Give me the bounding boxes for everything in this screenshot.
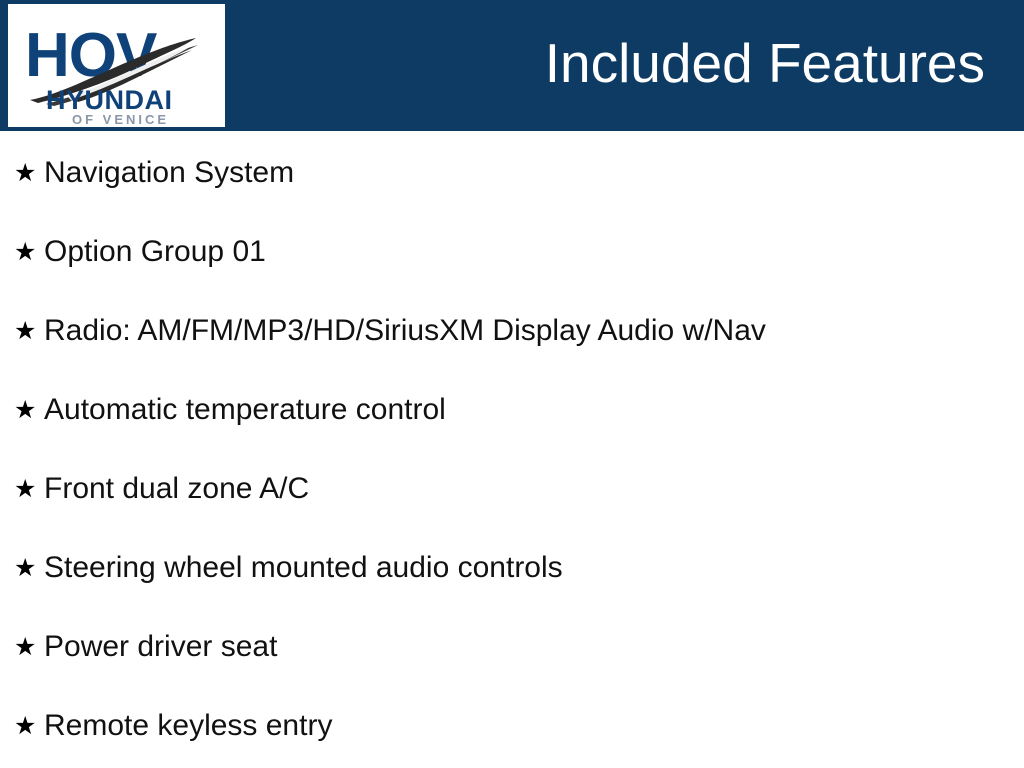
feature-label: Steering wheel mounted audio controls	[44, 550, 563, 586]
feature-label: Navigation System	[44, 155, 294, 191]
included-features-list: ★ Navigation System ★ Option Group 01 ★ …	[0, 131, 1024, 768]
feature-label: Power driver seat	[44, 629, 277, 665]
star-icon: ★	[14, 555, 44, 580]
feature-label: Automatic temperature control	[44, 392, 446, 428]
list-item: ★ Radio: AM/FM/MP3/HD/SiriusXM Display A…	[0, 291, 1024, 370]
list-item: ★ Automatic temperature control	[0, 370, 1024, 449]
star-icon: ★	[14, 160, 44, 185]
star-icon: ★	[14, 239, 44, 264]
list-item: ★ Remote keyless entry	[0, 686, 1024, 765]
star-icon: ★	[14, 634, 44, 659]
svg-text:OF VENICE: OF VENICE	[72, 112, 169, 127]
feature-label: Option Group 01	[44, 234, 266, 270]
star-icon: ★	[14, 476, 44, 501]
list-item: ★ Option Group 01	[0, 212, 1024, 291]
list-item: ★ Power driver seat	[0, 607, 1024, 686]
hov-hyundai-of-venice-logo-icon: HOV HYUNDAI OF VENICE	[8, 4, 225, 127]
feature-label: Front dual zone A/C	[44, 471, 309, 507]
page-title: Included Features	[545, 28, 985, 98]
feature-label: Radio: AM/FM/MP3/HD/SiriusXM Display Aud…	[44, 313, 766, 349]
feature-label: Remote keyless entry	[44, 708, 332, 744]
list-item: ★ Navigation System	[0, 133, 1024, 212]
slide-header: HOV HYUNDAI OF VENICE	[0, 0, 1024, 131]
star-icon: ★	[14, 318, 44, 343]
star-icon: ★	[14, 397, 44, 422]
list-item: ★ Front dual zone A/C	[0, 449, 1024, 528]
feature-slide: HOV HYUNDAI OF VENICE	[0, 0, 1024, 768]
logo-artwork: HOV HYUNDAI OF VENICE	[8, 4, 225, 127]
star-icon: ★	[14, 713, 44, 738]
list-item: ★ Steering wheel mounted audio controls	[0, 528, 1024, 607]
dealer-logo: HOV HYUNDAI OF VENICE	[8, 4, 225, 127]
svg-text:HYUNDAI: HYUNDAI	[46, 85, 173, 115]
